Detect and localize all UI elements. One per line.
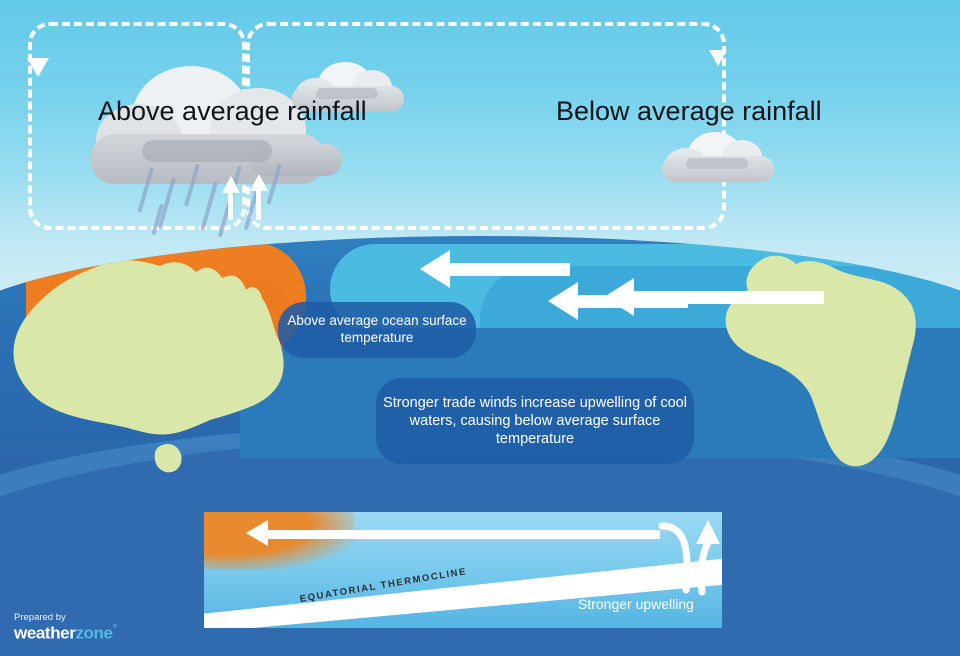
callout-sst-text: Above average ocean surface temperature <box>278 313 476 347</box>
trade-wind-arrow-shaft-1 <box>450 263 570 276</box>
arrow-up-icon <box>250 174 268 191</box>
arrow-down-icon-left <box>27 58 49 77</box>
page-title-above-average-rainfall: Above average rainfall <box>98 96 367 127</box>
arrow-up-icon <box>222 176 240 193</box>
callout-trade-winds: Stronger trade winds increase upwelling … <box>376 378 694 464</box>
trade-wind-arrow-shaft-3 <box>578 295 688 308</box>
logo-brand-zone: zone <box>75 624 112 643</box>
inset-warm-pool <box>204 512 354 570</box>
arrow-left-icon-inset <box>246 520 268 546</box>
australia-landmass <box>0 250 320 490</box>
small-cloud-icon-right <box>662 128 780 184</box>
arrow-up-stem <box>228 192 233 220</box>
logo-brand-degree: ° <box>113 623 117 635</box>
upwelling-label: Stronger upwelling <box>578 596 694 612</box>
south-america-landmass <box>700 238 960 488</box>
callout-trade-winds-text: Stronger trade winds increase upwelling … <box>376 394 694 448</box>
logo-brand: weatherzone° <box>14 623 117 644</box>
la-nina-diagram: Above average ocean surface temperature … <box>0 0 960 656</box>
callout-sea-surface-temperature: Above average ocean surface temperature <box>278 302 476 358</box>
weatherzone-logo: Prepared by weatherzone° <box>14 612 117 644</box>
logo-brand-weather: weather <box>14 624 75 643</box>
arrow-left-icon-trade-1 <box>420 250 450 288</box>
arrow-left-icon-trade-3 <box>548 282 578 320</box>
arrow-up-stem <box>256 190 261 220</box>
arrow-down-icon-right <box>709 50 727 66</box>
logo-prepared-by: Prepared by <box>14 612 117 623</box>
curved-up-arrow-icon <box>650 512 740 602</box>
page-title-below-average-rainfall: Below average rainfall <box>556 96 822 127</box>
inset-current-shaft <box>268 530 660 539</box>
